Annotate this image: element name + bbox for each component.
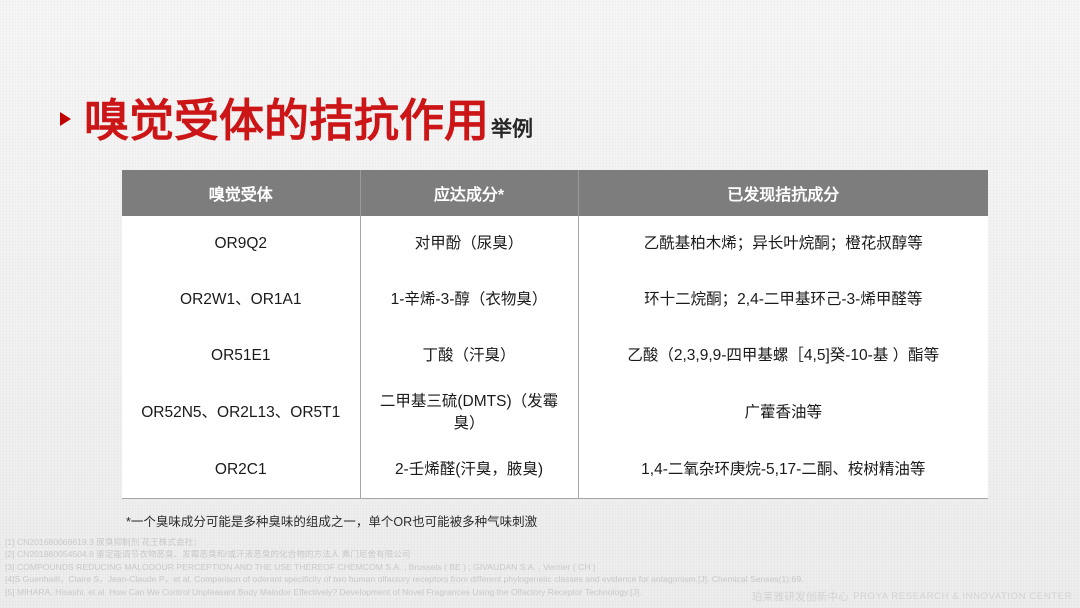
reference-item: [5] MIHARA, Hisashi, et al. How Can We C… (5, 586, 1077, 598)
cell-target: 二甲基三硫(DMTS)（发霉臭） (360, 384, 578, 442)
table-bottom-divider (122, 498, 988, 499)
table-row: OR51E1 丁酸（汗臭） 乙酸（2,3,9,9-四甲基螺［4,5]癸-10-基… (122, 328, 988, 384)
cell-receptor: OR51E1 (122, 328, 360, 384)
antagonism-table: 嗅觉受体 应达成分* 已发现拮抗成分 OR9Q2 对甲酚（尿臭） 乙酰基柏木烯；… (122, 170, 988, 498)
cell-antagonist: 乙酸（2,3,9,9-四甲基螺［4,5]癸-10-基 ）酯等 (578, 328, 988, 384)
reference-item: [4]S Guenhaël，Claire S，Jean-Claude P，et … (5, 573, 1077, 585)
cell-receptor: OR2W1、OR1A1 (122, 272, 360, 328)
table-row: OR52N5、OR2L13、OR5T1 二甲基三硫(DMTS)（发霉臭） 广藿香… (122, 384, 988, 442)
table-row: OR9Q2 对甲酚（尿臭） 乙酰基柏木烯；异长叶烷酮；橙花叔醇等 (122, 216, 988, 272)
cell-target: 2-壬烯醛(汗臭，腋臭) (360, 442, 578, 498)
cell-antagonist: 1,4-二氧杂环庚烷-5,17-二酮、桉树精油等 (578, 442, 988, 498)
antagonism-table-container: 嗅觉受体 应达成分* 已发现拮抗成分 OR9Q2 对甲酚（尿臭） 乙酰基柏木烯；… (122, 170, 988, 499)
reference-item: [3] COMPOUNDS REDUCING MALODOUR PERCEPTI… (5, 561, 1077, 573)
reference-item: [1] CN201680068619.3 尿臭抑制剂 花王株式会社； (5, 536, 1077, 548)
cell-receptor: OR9Q2 (122, 216, 360, 272)
cell-receptor: OR2C1 (122, 442, 360, 498)
cell-antagonist: 乙酰基柏木烯；异长叶烷酮；橙花叔醇等 (578, 216, 988, 272)
cell-target: 1-辛烯-3-醇（衣物臭） (360, 272, 578, 328)
cell-receptor: OR52N5、OR2L13、OR5T1 (122, 384, 360, 442)
reference-item: [2] CN201880054504.8 鉴定能调节衣物恶臭、发霉恶臭和/或汗液… (5, 548, 1077, 560)
cell-antagonist: 广藿香油等 (578, 384, 988, 442)
reference-list: [1] CN201680068619.3 尿臭抑制剂 花王株式会社； [2] C… (5, 536, 1077, 598)
cell-target: 丁酸（汗臭） (360, 328, 578, 384)
page-title: 嗅觉受体的拮抗作用 举例 (60, 98, 533, 143)
column-header-antagonist: 已发现拮抗成分 (578, 170, 988, 216)
triangle-right-icon (60, 112, 71, 126)
table-header-row: 嗅觉受体 应达成分* 已发现拮抗成分 (122, 170, 988, 216)
title-main-text: 嗅觉受体的拮抗作用 (84, 98, 489, 143)
column-header-target: 应达成分* (360, 170, 578, 216)
column-header-receptor: 嗅觉受体 (122, 170, 360, 216)
table-row: OR2W1、OR1A1 1-辛烯-3-醇（衣物臭） 环十二烷酮；2,4-二甲基环… (122, 272, 988, 328)
title-sub-text: 举例 (491, 119, 533, 140)
cell-antagonist: 环十二烷酮；2,4-二甲基环己-3-烯甲醛等 (578, 272, 988, 328)
cell-target: 对甲酚（尿臭） (360, 216, 578, 272)
table-footnote: *一个臭味成分可能是多种臭味的组成之一，单个OR也可能被多种气味刺激 (126, 511, 537, 530)
table-row: OR2C1 2-壬烯醛(汗臭，腋臭) 1,4-二氧杂环庚烷-5,17-二酮、桉树… (122, 442, 988, 498)
